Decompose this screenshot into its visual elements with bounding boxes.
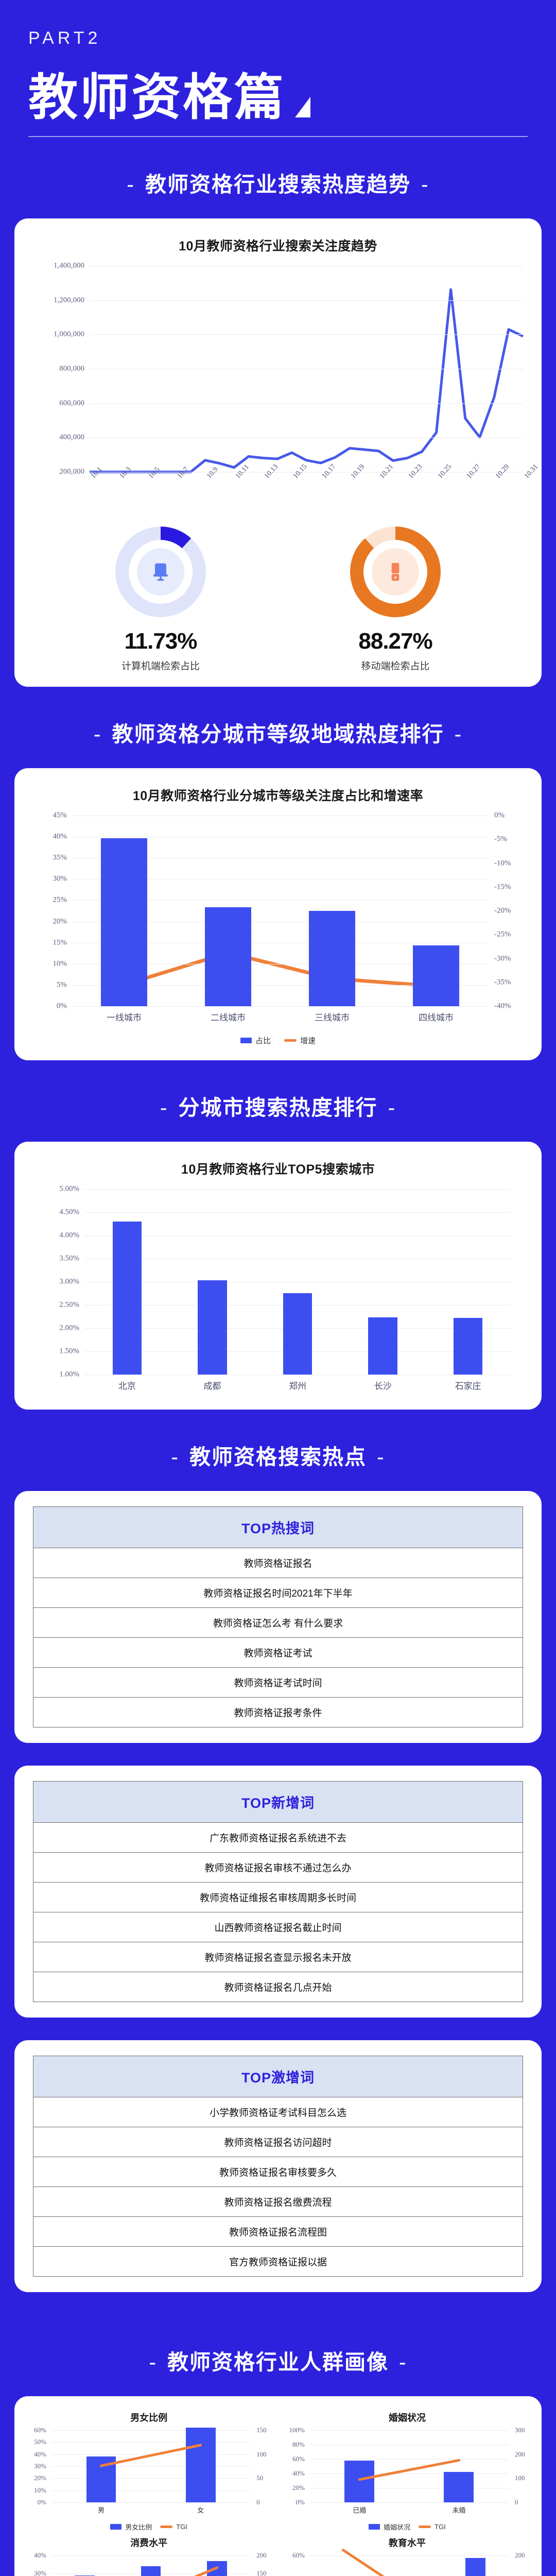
y2-axis-tick-label: -15% <box>494 883 511 891</box>
keyword-cell: 教师资格证报考条件 <box>33 1698 523 1727</box>
keyword-table-head: TOP热搜词 <box>33 1507 523 1548</box>
gridline <box>90 300 523 301</box>
top5-x-tick: 成都 <box>203 1379 221 1392</box>
table-row: 教师资格证报名审核要多久 <box>33 2157 523 2187</box>
y2-axis-tick-label: 0% <box>494 811 505 820</box>
education-chart: 教育水平0%20%40%60%0100200本科及以上大专高中及以下学历TGI <box>283 2536 531 2576</box>
y-axis-tick-label: 4.00% <box>59 1231 79 1240</box>
consume-title: 消费水平 <box>25 2536 273 2549</box>
y-axis-tick-label: 600,000 <box>59 399 84 408</box>
y2-axis-tick-label: 150 <box>256 2569 267 2576</box>
y2-axis-tick-label: -20% <box>494 907 511 916</box>
gender-chart: 男女比例0%10%20%30%40%50%60%050100150男女男女比例T… <box>25 2411 273 2532</box>
mobile-share-value: 88.27% <box>318 629 473 654</box>
legend-bar-swatch <box>240 1038 252 1043</box>
y-axis-tick-label: 20% <box>34 2474 46 2482</box>
keyword-cell: 教师资格证怎么考 有什么要求 <box>33 1608 523 1638</box>
table-row: 山西教师资格证报名截止时间 <box>33 1912 523 1942</box>
marital-legend: 婚姻状况TGI <box>283 2522 531 2532</box>
table-header-row: TOP热搜词 <box>33 1507 523 1548</box>
consume-plot-area: 0%10%20%30%40%050100150200 <box>51 2555 250 2576</box>
y-axis-tick-label: 35% <box>53 854 67 862</box>
y-axis-tick-label: 40% <box>34 2551 46 2560</box>
gridline <box>90 266 523 266</box>
gridline <box>84 1212 511 1213</box>
keyword-table-body: 小学教师资格证考试科目怎么选教师资格证报名访问超时教师资格证报名审核要多久教师资… <box>33 2097 523 2277</box>
y-axis-tick-label: 50% <box>34 2438 46 2446</box>
y-axis-tick-label: 60% <box>292 2455 305 2463</box>
marital-x-axis-labels: 已婚未婚 <box>310 2502 509 2517</box>
marital-chart: 婚姻状况0%20%40%60%80%100%0100200300已婚未婚婚姻状况… <box>283 2411 531 2532</box>
section-heading-city-label: 分城市搜索热度排行 <box>179 1096 378 1120</box>
y-axis-tick-label: 10% <box>34 2486 46 2495</box>
table-row: 教师资格证报名流程图 <box>33 2217 523 2247</box>
dash-right: - <box>411 173 440 197</box>
keyword-cell: 教师资格证报名几点开始 <box>33 1972 523 2002</box>
y-axis-tick-label: 30% <box>34 2569 46 2576</box>
consume-chart: 消费水平0%10%20%30%40%050100150200高消费中消费低消费消… <box>25 2536 273 2576</box>
trend-x-tick: 10.31 <box>523 463 540 481</box>
gridline <box>90 334 523 335</box>
section-heading-city: -分城市搜索热度排行- <box>0 1060 556 1142</box>
tier-x-axis-labels: 一线城市二线城市三线城市四线城市 <box>72 1006 488 1027</box>
section-heading-tier-label: 教师资格分城市等级地域热度排行 <box>112 722 444 746</box>
dash-left: - <box>150 1096 179 1120</box>
pc-icon-disc <box>137 548 184 596</box>
y-axis-tick-label: 20% <box>53 917 67 926</box>
keyword-cell: 广东教师资格证报名系统进不去 <box>33 1823 523 1853</box>
y2-axis-tick-label: 100 <box>256 2450 267 2459</box>
y-axis-tick-label: 30% <box>53 875 67 884</box>
mobile-phone-icon <box>384 561 407 583</box>
bar <box>368 1317 397 1375</box>
y-axis-tick-label: 10% <box>53 959 67 968</box>
pc-donut-hole <box>129 540 193 604</box>
table-row: 小学教师资格证考试科目怎么选 <box>33 2097 523 2127</box>
legend-label: 婚姻状况 <box>384 2522 410 2532</box>
keyword-table-body: 广东教师资格证报名系统进不去教师资格证报名审核不通过怎么办教师资格证维报名审核周… <box>33 1823 523 2002</box>
table-row: 教师资格证报名 <box>33 1548 523 1578</box>
marital-x-tick: 已婚 <box>353 2505 366 2515</box>
y-axis-tick-label: 800,000 <box>59 365 84 374</box>
gender-x-axis-labels: 男女 <box>51 2502 250 2517</box>
tier-plot-area: 0%5%10%15%20%25%30%35%40%45%-40%-35%-30%… <box>72 816 488 1006</box>
gender-plot-area: 0%10%20%30%40%50%60%050100150 <box>51 2430 250 2502</box>
y2-axis-tick-label: 0 <box>515 2498 518 2506</box>
top5-x-tick: 郑州 <box>289 1379 306 1392</box>
gender-title: 男女比例 <box>25 2411 273 2424</box>
y2-axis-tick-label: -35% <box>494 978 511 987</box>
dash-right: - <box>367 1445 395 1469</box>
tier-chart-title: 10月教师资格行业分城市等级关注度占比和增速率 <box>28 786 528 804</box>
keyword-cell: 官方教师资格证报以据 <box>33 2247 523 2277</box>
dash-left: - <box>83 722 112 747</box>
legend-label: TGI <box>176 2523 187 2531</box>
dash-left: - <box>138 2350 167 2375</box>
gender-x-tick: 女 <box>197 2505 204 2515</box>
device-share-donuts: 11.73% 计算机端检索占比 88.27% <box>28 527 528 672</box>
keyword-table-card: TOP热搜词教师资格证报名教师资格证报名时间2021年下半年教师资格证怎么考 有… <box>14 1491 542 1743</box>
trend-card: 10月教师资格行业搜索关注度趋势 200,000400,000600,00080… <box>14 218 542 687</box>
keyword-table-card: TOP新增词广东教师资格证报名系统进不去教师资格证报名审核不通过怎么办教师资格证… <box>14 1766 542 2018</box>
table-header-row: TOP激增词 <box>33 2056 523 2097</box>
mobile-share-label: 移动端检索占比 <box>318 658 473 672</box>
marital-x-tick: 未婚 <box>452 2505 465 2515</box>
section-heading-tier: -教师资格分城市等级地域热度排行- <box>0 687 556 768</box>
gridline <box>84 1235 511 1236</box>
dash-left: - <box>161 1445 189 1469</box>
legend-label: 男女比例 <box>125 2522 152 2532</box>
table-row: 教师资格证报名时间2021年下半年 <box>33 1578 523 1608</box>
education-plot-area: 0%20%40%60%0100200 <box>310 2555 509 2576</box>
marital-tgi-line <box>310 2430 509 2502</box>
gender-legend: 男女比例TGI <box>25 2522 273 2532</box>
section-heading-trend: -教师资格行业搜索热度趋势- <box>0 137 556 218</box>
y-axis-tick-label: 20% <box>292 2484 305 2492</box>
education-tgi-line <box>310 2555 509 2576</box>
gridline <box>72 816 488 816</box>
y2-axis-tick-label: 0 <box>256 2498 260 2506</box>
top5-card: 10月教师资格行业TOP5搜索城市 1.00%1.50%2.00%2.50%3.… <box>14 1142 542 1410</box>
dash-right: - <box>378 1096 407 1120</box>
gridline <box>90 437 523 438</box>
y2-axis-tick-label: -25% <box>494 930 511 939</box>
gender-x-tick: 男 <box>98 2505 105 2515</box>
keyword-cell: 教师资格证报名查显示报名未开放 <box>33 1942 523 1972</box>
part-label: PART2 <box>28 28 528 48</box>
trend-plot-area: 200,000400,000600,000800,0001,000,0001,2… <box>90 266 523 472</box>
bar <box>309 911 356 1006</box>
y-axis-tick-label: 60% <box>292 2551 305 2560</box>
bar <box>113 1222 142 1375</box>
y2-axis-tick-label: 200 <box>256 2551 267 2560</box>
section-heading-trend-label: 教师资格行业搜索热度趋势 <box>145 173 411 196</box>
triangle-accent-icon <box>295 97 310 117</box>
hero-divider <box>28 136 528 137</box>
y2-axis-tick-label: 150 <box>256 2426 267 2434</box>
table-row: 教师资格证报名访问超时 <box>33 2127 523 2157</box>
bar <box>101 838 148 1006</box>
gridline <box>84 1259 511 1259</box>
y-axis-tick-label: 2.00% <box>59 1324 79 1333</box>
section-heading-hotspot: -教师资格搜索热点- <box>0 1410 556 1491</box>
keyword-cell: 教师资格证维报名审核周期多长时间 <box>33 1883 523 1912</box>
gender-tgi-line <box>51 2430 250 2502</box>
keyword-cell: 教师资格证报名流程图 <box>33 2217 523 2247</box>
tier-card: 10月教师资格行业分城市等级关注度占比和增速率 0%5%10%15%20%25%… <box>14 768 542 1060</box>
section-heading-persona-label: 教师资格行业人群画像 <box>167 2350 389 2374</box>
keyword-table: TOP新增词广东教师资格证报名系统进不去教师资格证报名审核不通过怎么办教师资格证… <box>33 1781 523 2002</box>
top5-chart-title: 10月教师资格行业TOP5搜索城市 <box>28 1159 528 1178</box>
legend-line-swatch <box>284 1039 297 1042</box>
keyword-cell: 教师资格证考试时间 <box>33 1668 523 1698</box>
table-row: 广东教师资格证报名系统进不去 <box>33 1823 523 1853</box>
gridline <box>84 1189 511 1190</box>
y-axis-tick-label: 100% <box>289 2426 305 2434</box>
bar <box>205 907 252 1006</box>
top5-x-tick: 长沙 <box>374 1379 392 1392</box>
top5-plot-area: 1.00%1.50%2.00%2.50%3.00%3.50%4.00%4.50%… <box>84 1189 511 1375</box>
pc-donut-chart <box>115 527 206 617</box>
y-axis-tick-label: 1,200,000 <box>54 296 84 304</box>
keyword-table-header-cell: TOP激增词 <box>33 2056 523 2097</box>
keyword-cell: 教师资格证报名时间2021年下半年 <box>33 1578 523 1608</box>
trend-chart-title: 10月教师资格行业搜索关注度趋势 <box>28 236 528 255</box>
top5-x-tick: 石家庄 <box>455 1379 481 1392</box>
table-row: 教师资格证怎么考 有什么要求 <box>33 1608 523 1638</box>
legend-bar-swatch <box>110 2524 121 2530</box>
page-title: 教师资格篇 <box>28 73 286 123</box>
y-axis-tick-label: 5.00% <box>59 1185 79 1194</box>
pc-share-block: 11.73% 计算机端检索占比 <box>83 527 238 672</box>
legend-item: 占比 <box>240 1035 271 1046</box>
keyword-cell: 教师资格证报名审核不通过怎么办 <box>33 1853 523 1883</box>
mobile-icon-disc <box>372 548 419 596</box>
legend-item: TGI <box>160 2522 187 2532</box>
keyword-tables-container: TOP热搜词教师资格证报名教师资格证报名时间2021年下半年教师资格证怎么考 有… <box>0 1491 556 2292</box>
bar <box>198 1280 227 1375</box>
marital-title: 婚姻状况 <box>283 2411 531 2424</box>
y-axis-tick-label: 0% <box>57 1002 67 1011</box>
keyword-table-head: TOP新增词 <box>33 1782 523 1823</box>
table-row: 教师资格证考试时间 <box>33 1668 523 1698</box>
y2-axis-tick-label: -10% <box>494 859 511 868</box>
y-axis-tick-label: 400,000 <box>59 433 84 442</box>
hero-header: PART2 教师资格篇 <box>0 0 556 137</box>
tier-x-tick: 二线城市 <box>211 1010 246 1023</box>
y-axis-tick-label: 1.00% <box>59 1370 79 1379</box>
bar <box>454 1318 482 1375</box>
keyword-cell: 教师资格证报名缴费流程 <box>33 2187 523 2217</box>
y-axis-tick-label: 1,000,000 <box>54 330 84 339</box>
y-axis-tick-label: 60% <box>34 2426 46 2434</box>
trend-x-axis-labels: 10.110.310.510.710.910.1110.1310.1510.17… <box>90 472 523 513</box>
dash-right: - <box>444 722 473 747</box>
y2-axis-tick-label: 100 <box>515 2474 525 2482</box>
keyword-cell: 教师资格证考试 <box>33 1638 523 1668</box>
keyword-table-header-cell: TOP新增词 <box>33 1782 523 1823</box>
marital-plot-area: 0%20%40%60%80%100%0100200300 <box>310 2430 509 2502</box>
legend-item: 增速 <box>284 1035 316 1046</box>
legend-line-swatch <box>419 2526 431 2528</box>
table-row: 官方教师资格证报以据 <box>33 2247 523 2277</box>
y2-axis-tick-label: -40% <box>494 1002 511 1011</box>
table-header-row: TOP新增词 <box>33 1782 523 1823</box>
keyword-cell: 小学教师资格证考试科目怎么选 <box>33 2097 523 2127</box>
legend-item: 男女比例 <box>110 2522 152 2532</box>
y-axis-tick-label: 200,000 <box>59 468 84 477</box>
table-row: 教师资格证报名几点开始 <box>33 1972 523 2002</box>
table-row: 教师资格证维报名审核周期多长时间 <box>33 1883 523 1912</box>
infographic-page: PART2 教师资格篇 -教师资格行业搜索热度趋势- 10月教师资格行业搜索关注… <box>0 0 556 2576</box>
y-axis-tick-label: 5% <box>57 980 67 989</box>
hero-title-row: 教师资格篇 <box>28 73 528 123</box>
y-axis-tick-label: 0% <box>296 2498 305 2506</box>
top5-chart: 1.00%1.50%2.00%2.50%3.00%3.50%4.00%4.50%… <box>28 1189 528 1395</box>
y2-axis-tick-label: 50 <box>256 2474 263 2482</box>
consume-tgi-line <box>51 2555 250 2576</box>
tier-x-tick: 三线城市 <box>315 1010 350 1023</box>
y-axis-tick-label: 45% <box>53 811 67 820</box>
trend-chart: 200,000400,000600,000800,0001,000,0001,2… <box>28 266 528 513</box>
legend-item: TGI <box>419 2522 446 2532</box>
y-axis-tick-label: 3.00% <box>59 1278 79 1286</box>
keyword-table-head: TOP激增词 <box>33 2056 523 2097</box>
tier-x-tick: 四线城市 <box>419 1010 454 1023</box>
y-axis-tick-label: 25% <box>53 896 67 905</box>
legend-bar-swatch <box>369 2524 380 2530</box>
y2-axis-tick-label: -5% <box>494 835 507 844</box>
mobile-share-block: 88.27% 移动端检索占比 <box>318 527 473 672</box>
keyword-table-body: 教师资格证报名教师资格证报名时间2021年下半年教师资格证怎么考 有什么要求教师… <box>33 1548 523 1727</box>
keyword-cell: 教师资格证报名 <box>33 1548 523 1578</box>
legend-line-swatch <box>160 2526 172 2528</box>
y2-axis-tick-label: 200 <box>515 2450 525 2459</box>
desktop-monitor-icon <box>149 561 172 583</box>
y-axis-tick-label: 80% <box>292 2441 305 2449</box>
y-axis-tick-label: 2.50% <box>59 1301 79 1310</box>
bar <box>413 945 460 1006</box>
table-row: 教师资格证报名审核不通过怎么办 <box>33 1853 523 1883</box>
gridline <box>90 403 523 404</box>
y-axis-tick-label: 1,400,000 <box>54 262 84 270</box>
y-axis-tick-label: 15% <box>53 938 67 947</box>
y-axis-tick-label: 4.50% <box>59 1208 79 1217</box>
legend-label: 增速 <box>300 1035 316 1046</box>
top5-x-tick: 北京 <box>118 1379 136 1392</box>
pc-share-label: 计算机端检索占比 <box>83 658 238 672</box>
section-heading-hotspot-label: 教师资格搜索热点 <box>189 1445 367 1469</box>
top5-x-axis-labels: 北京成都郑州长沙石家庄 <box>84 1375 511 1395</box>
tier-legend: 占比增速 <box>28 1035 528 1046</box>
table-row: 教师资格证报名缴费流程 <box>33 2187 523 2217</box>
table-row: 教师资格证报考条件 <box>33 1698 523 1727</box>
keyword-cell: 教师资格证报名访问超时 <box>33 2127 523 2157</box>
legend-label: TGI <box>435 2523 446 2531</box>
persona-card: 男女比例0%10%20%30%40%50%60%050100150男女男女比例T… <box>14 2396 542 2576</box>
tier-chart: 0%5%10%15%20%25%30%35%40%45%-40%-35%-30%… <box>28 816 528 1046</box>
y-axis-tick-label: 0% <box>38 2498 46 2506</box>
y2-axis-tick-label: 300 <box>515 2426 525 2434</box>
section-heading-persona: -教师资格行业人群画像- <box>0 2315 556 2396</box>
gridline <box>72 837 488 837</box>
keyword-table-header-cell: TOP热搜词 <box>33 1507 523 1548</box>
table-row: 教师资格证报名查显示报名未开放 <box>33 1942 523 1972</box>
keyword-table: TOP激增词小学教师资格证考试科目怎么选教师资格证报名访问超时教师资格证报名审核… <box>33 2056 523 2277</box>
legend-item: 婚姻状况 <box>369 2522 410 2532</box>
bar <box>283 1293 312 1375</box>
keyword-cell: 山西教师资格证报名截止时间 <box>33 1912 523 1942</box>
y2-axis-tick-label: -30% <box>494 954 511 963</box>
persona-row-1: 男女比例0%10%20%30%40%50%60%050100150男女男女比例T… <box>25 2411 531 2532</box>
y-axis-tick-label: 1.50% <box>59 1347 79 1356</box>
pc-share-value: 11.73% <box>83 629 238 654</box>
table-row: 教师资格证考试 <box>33 1638 523 1668</box>
legend-label: 占比 <box>255 1035 271 1046</box>
gridline <box>84 1282 511 1282</box>
education-title: 教育水平 <box>283 2536 531 2549</box>
tier-x-tick: 一线城市 <box>107 1010 142 1023</box>
y2-axis-tick-label: 200 <box>515 2551 525 2560</box>
y-axis-tick-label: 40% <box>292 2469 305 2478</box>
y-axis-tick-label: 3.50% <box>59 1255 79 1263</box>
y-axis-tick-label: 40% <box>34 2450 46 2459</box>
y-axis-tick-label: 40% <box>53 833 67 841</box>
keyword-table-card: TOP激增词小学教师资格证考试科目怎么选教师资格证报名访问超时教师资格证报名审核… <box>14 2040 542 2292</box>
keyword-cell: 教师资格证报名审核要多久 <box>33 2157 523 2187</box>
mobile-donut-hole <box>363 540 427 604</box>
gridline <box>90 369 523 369</box>
dash-left: - <box>116 173 145 197</box>
dash-right: - <box>389 2350 418 2375</box>
y-axis-tick-label: 30% <box>34 2462 46 2470</box>
keyword-table: TOP热搜词教师资格证报名教师资格证报名时间2021年下半年教师资格证怎么考 有… <box>33 1506 523 1727</box>
persona-row-2: 消费水平0%10%20%30%40%050100150200高消费中消费低消费消… <box>25 2536 531 2576</box>
mobile-donut-chart <box>350 527 441 617</box>
